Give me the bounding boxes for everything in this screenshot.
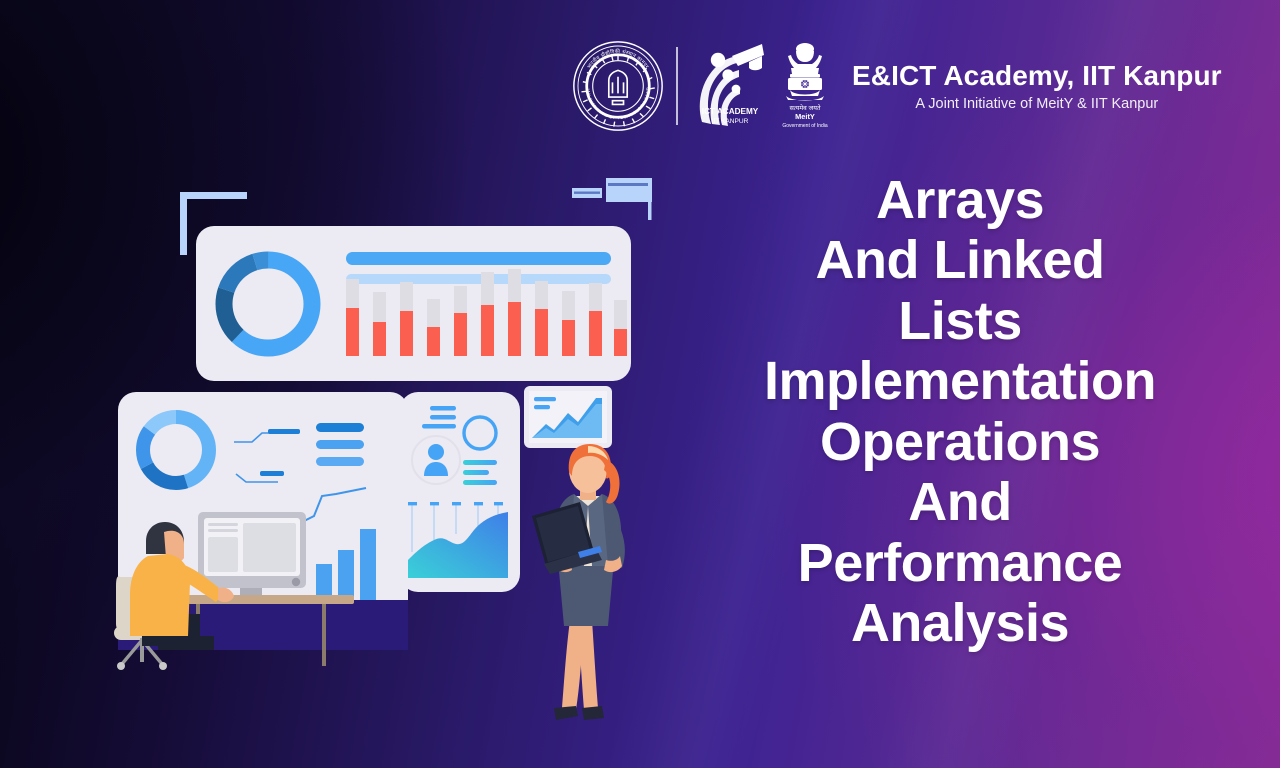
dashboard-card-small bbox=[524, 386, 612, 448]
mini-bar-chart bbox=[316, 529, 376, 600]
title-line-3: Lists bbox=[700, 291, 1220, 351]
left-donut-chart bbox=[143, 417, 209, 483]
legend-bars bbox=[316, 423, 364, 466]
subtitle-bar bbox=[346, 274, 611, 284]
ict-academy-caption: ICT ACADEMY bbox=[702, 107, 759, 116]
header-branding: भारतीय प्रौद्योगिकी संस्थान कानपुर INDIA… bbox=[572, 38, 1222, 134]
mid-card-profile-group bbox=[400, 392, 520, 592]
title-bar bbox=[346, 252, 611, 265]
small-card-area-chart bbox=[524, 386, 612, 448]
meity-caption: MeitY bbox=[795, 112, 815, 121]
organization-subtitle: A Joint Initiative of MeitY & IIT Kanpur bbox=[915, 96, 1158, 112]
left-card-scene bbox=[118, 392, 408, 650]
ict-academy-caption2: IIT KANPUR bbox=[712, 118, 749, 125]
ring-chart bbox=[464, 417, 496, 449]
dashboard-card-mid bbox=[400, 392, 520, 592]
analytics-illustration bbox=[100, 170, 680, 760]
flag-decoration-icon bbox=[570, 176, 656, 222]
presentation-slide: भारतीय प्रौद्योगिकी संस्थान कानपुर INDIA… bbox=[0, 0, 1280, 768]
line-chart bbox=[300, 488, 366, 523]
meity-motto: सत्यमेव जयते bbox=[789, 104, 820, 112]
dashboard-card-top bbox=[196, 226, 631, 381]
meity-emblem-icon: सत्यमेव जयते MeitY Government of India bbox=[774, 40, 836, 132]
title-line-8: Analysis bbox=[700, 593, 1220, 653]
monitor bbox=[198, 512, 306, 595]
donut-chart bbox=[224, 260, 312, 348]
title-line-6: And bbox=[700, 472, 1220, 532]
top-card-chart-group bbox=[196, 226, 631, 381]
title-line-1: Arrays bbox=[700, 170, 1220, 230]
area-chart bbox=[408, 502, 508, 578]
title-line-5: Operations bbox=[700, 412, 1220, 472]
avatar-icon bbox=[412, 436, 460, 484]
ict-academy-logo-icon: ICT ACADEMY IIT KANPUR bbox=[692, 38, 768, 134]
dashboard-card-left bbox=[118, 392, 408, 650]
iit-kanpur-seal-icon: भारतीय प्रौद्योगिकी संस्थान कानपुर INDIA… bbox=[572, 40, 664, 132]
title-line-4: Implementation bbox=[700, 351, 1220, 411]
logo-divider bbox=[676, 47, 678, 125]
standing-presenter-figure bbox=[522, 444, 652, 730]
organization-title: E&ICT Academy, IIT Kanpur bbox=[852, 60, 1222, 92]
header-text-block: E&ICT Academy, IIT Kanpur A Joint Initia… bbox=[852, 60, 1222, 112]
title-line-7: Performance bbox=[700, 533, 1220, 593]
slide-title: Arrays And Linked Lists Implementation O… bbox=[700, 170, 1220, 654]
meity-caption2: Government of India bbox=[782, 123, 828, 129]
title-line-2: And Linked bbox=[700, 230, 1220, 290]
